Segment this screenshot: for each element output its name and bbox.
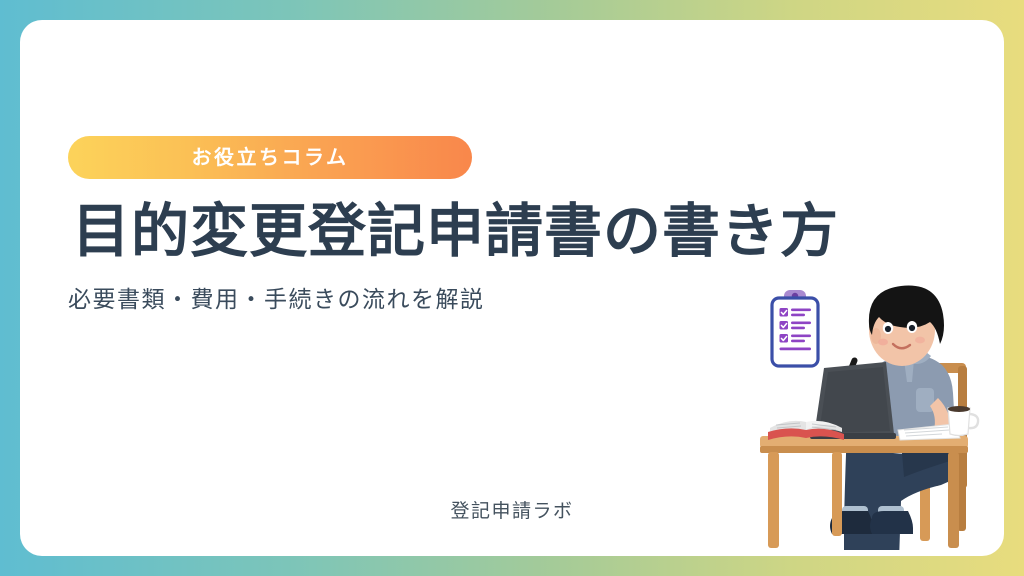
category-badge: お役立ちコラム <box>68 136 472 179</box>
hero-illustration <box>752 278 1000 550</box>
checklist-clipboard-icon <box>772 290 818 366</box>
category-badge-label: お役立ちコラム <box>192 148 349 168</box>
coffee-mug <box>948 406 978 436</box>
page-title: 目的変更登記申請書の書き方 <box>72 203 839 261</box>
page-subtitle: 必要書類・費用・手続きの流れを解説 <box>68 288 485 311</box>
poster-canvas: お役立ちコラム 目的変更登記申請書の書き方 必要書類・費用・手続きの流れを解説 … <box>0 0 1024 576</box>
